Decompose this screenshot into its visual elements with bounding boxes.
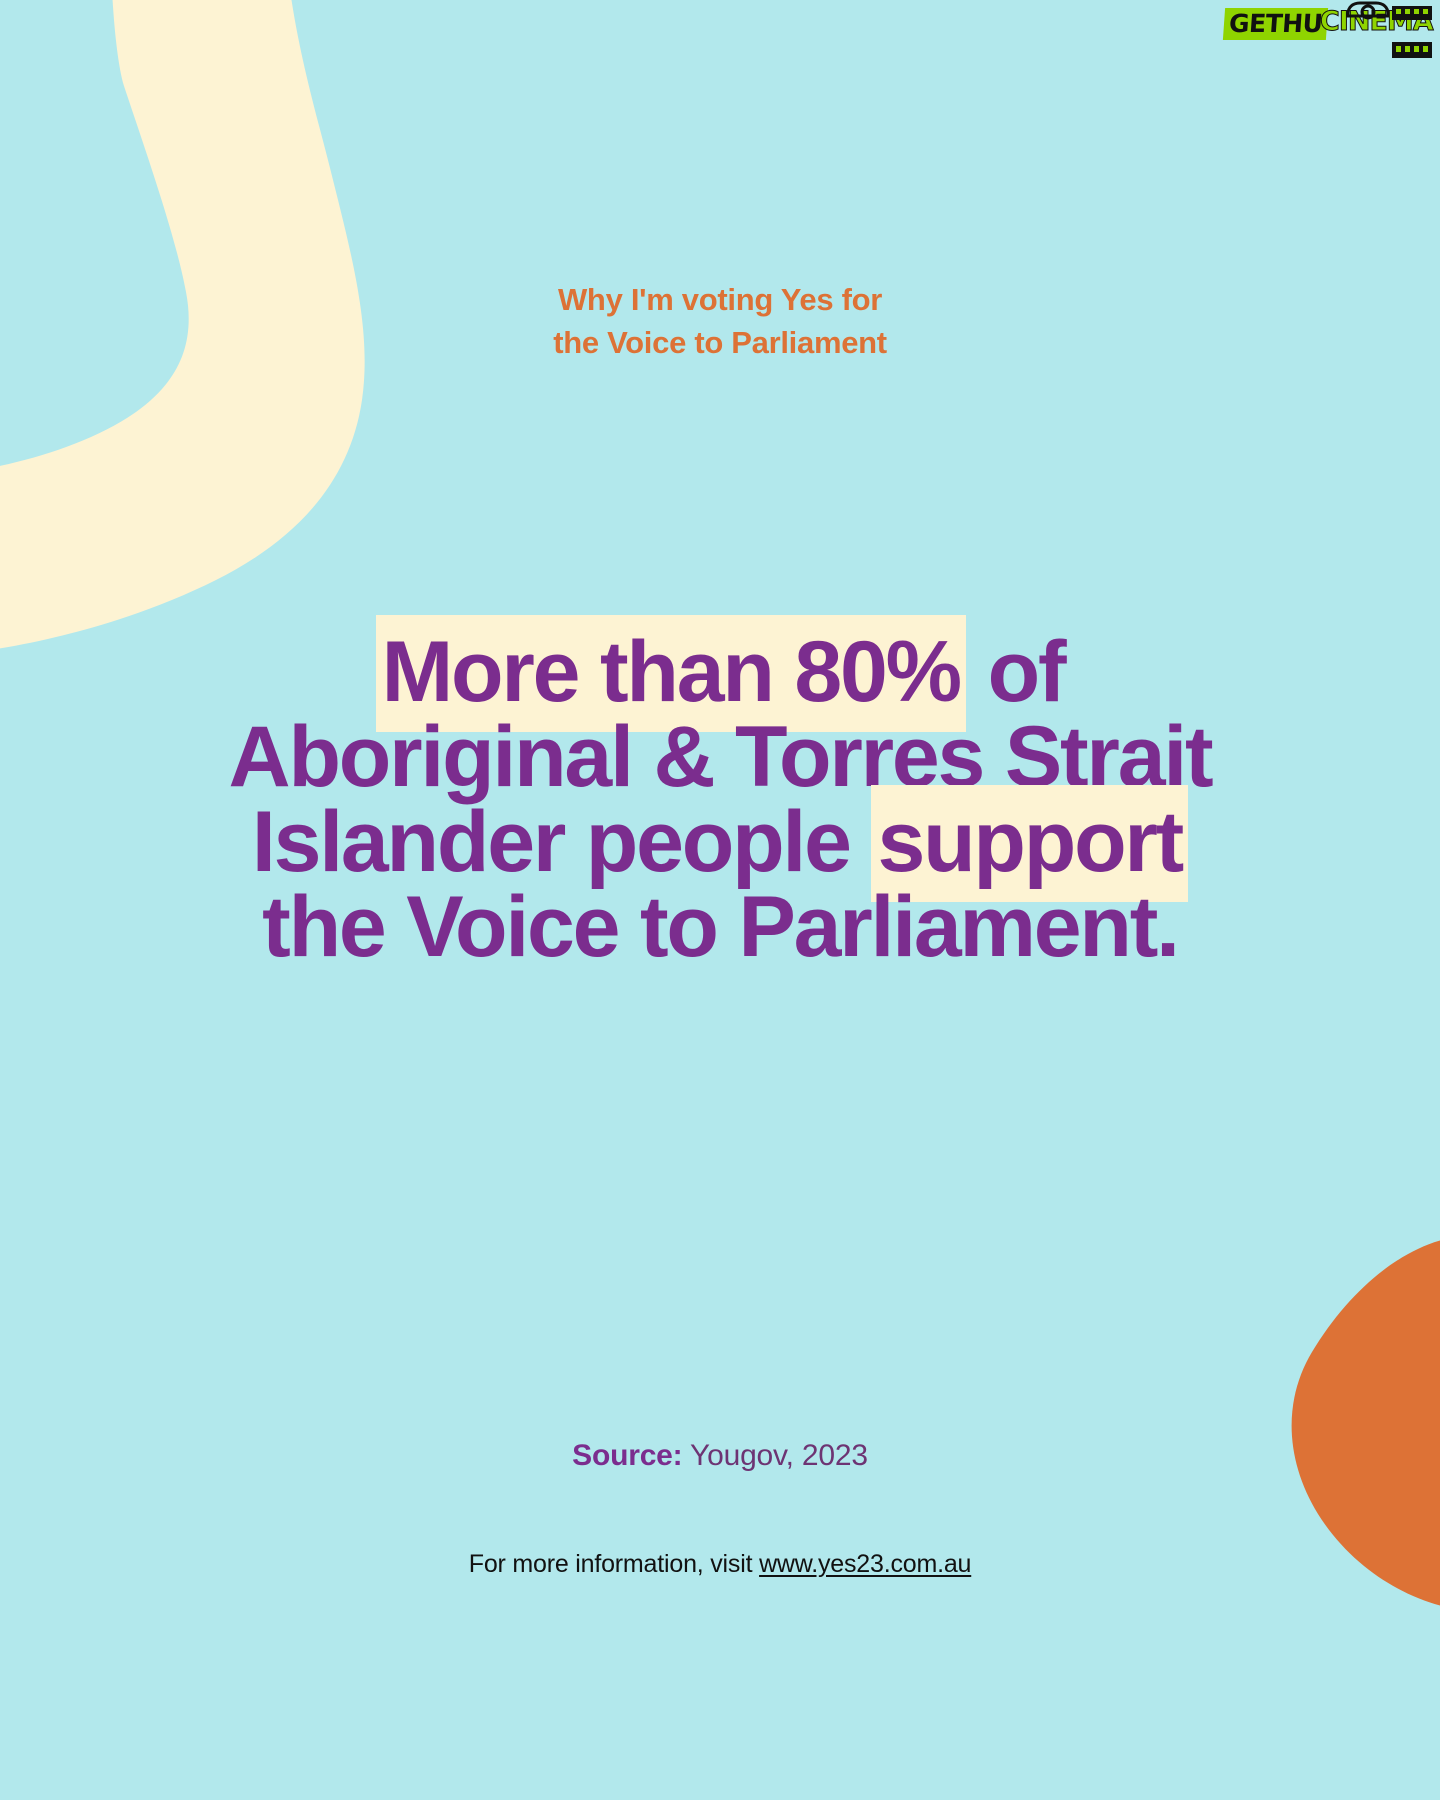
kicker-line-1: Why I'm voting Yes for [0, 278, 1440, 321]
headline-line-3-plain: Islander people [252, 794, 872, 890]
kicker-line-2: the Voice to Parliament [0, 321, 1440, 364]
headline-line-3: Islander people support [0, 800, 1440, 885]
watermark-logo: GETHU CINEMA [1224, 0, 1432, 62]
footer-prefix: For more information, visit [469, 1550, 759, 1578]
source-value: Yougov, 2023 [682, 1439, 867, 1472]
watermark-brand-first: GETHU [1223, 8, 1329, 40]
film-camera-icon [1340, 0, 1432, 62]
footer-info: For more information, visit www.yes23.co… [0, 1548, 1440, 1580]
source-label: Source: [572, 1439, 682, 1472]
poster-canvas: GETHU CINEMA Why I'm voting Yes for the … [0, 0, 1440, 1800]
headline-line-1-rest: of [966, 624, 1064, 720]
headline-line-2: Aboriginal & Torres Strait [0, 715, 1440, 800]
kicker-heading: Why I'm voting Yes for the Voice to Parl… [0, 278, 1440, 364]
source-attribution: Source: Yougov, 2023 [0, 1438, 1440, 1474]
headline-line-1: More than 80% of [0, 630, 1440, 715]
headline-line-4: the Voice to Parliament. [0, 885, 1440, 970]
footer-website-link[interactable]: www.yes23.com.au [759, 1550, 971, 1578]
headline-statement: More than 80% of Aboriginal & Torres Str… [0, 630, 1440, 970]
